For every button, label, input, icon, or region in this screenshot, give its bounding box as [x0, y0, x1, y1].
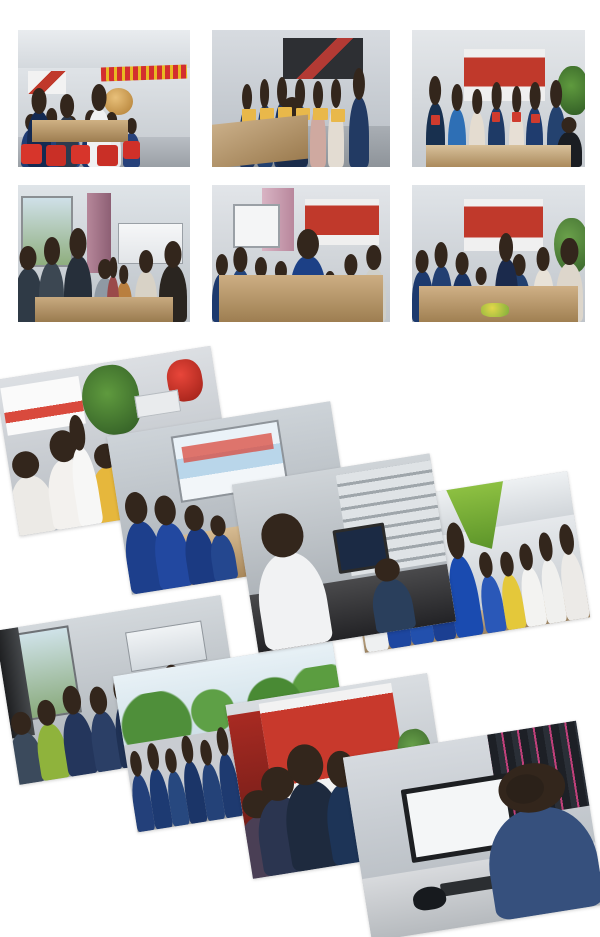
grid-photo-4[interactable]	[18, 185, 190, 322]
photo-scene-meeting-red-stools	[18, 30, 190, 167]
photo-scene-workshop-monitor	[232, 453, 456, 652]
photo-scene-award-gold-certificates	[212, 30, 390, 167]
photo-scene-training-window	[18, 185, 190, 322]
grid-photo-1[interactable]	[18, 30, 190, 167]
collage-photo-8[interactable]	[343, 721, 600, 937]
grid-photo-6[interactable]	[412, 185, 585, 322]
photo-scene-office-workstation	[343, 721, 600, 937]
tilted-photo-collage	[0, 340, 600, 937]
photo-gallery-page	[0, 0, 600, 937]
photo-scene-conference-blue-polo	[212, 185, 390, 322]
grid-photo-2[interactable]	[212, 30, 390, 167]
grid-photo-3[interactable]	[412, 30, 585, 167]
aligned-photo-grid	[0, 0, 600, 340]
collage-photo-3[interactable]	[232, 453, 456, 652]
grid-photo-5[interactable]	[212, 185, 390, 322]
fruit-platter	[481, 303, 509, 317]
photo-scene-meeting-fruit-platter	[412, 185, 585, 322]
photo-scene-award-red-certificates	[412, 30, 585, 167]
